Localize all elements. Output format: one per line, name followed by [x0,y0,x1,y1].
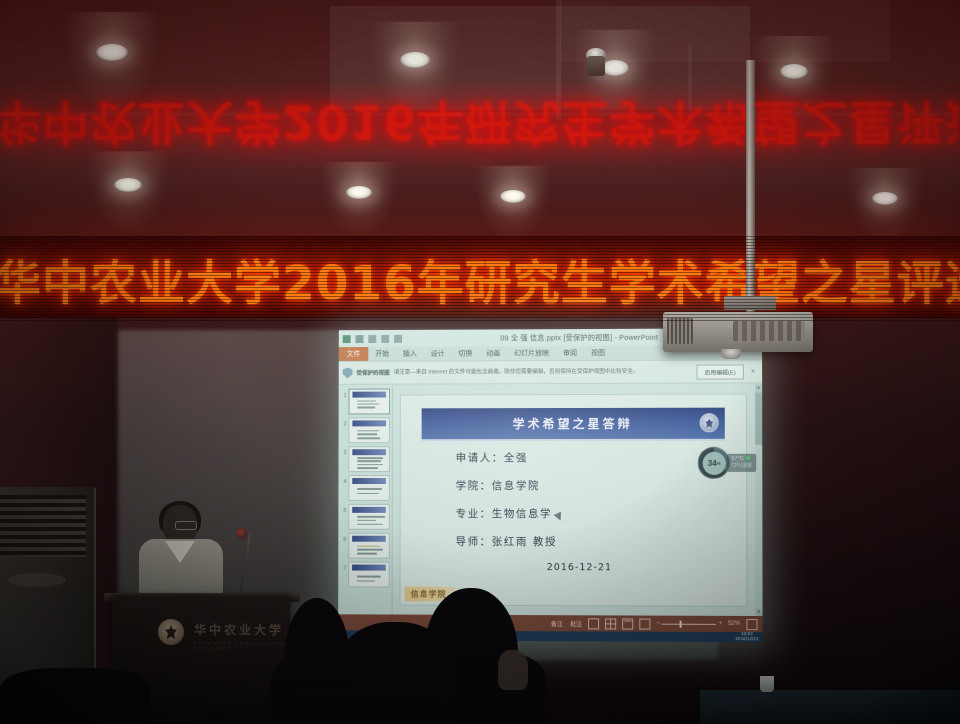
thumb-line [357,407,374,409]
thumb-line [357,457,383,459]
cpu-temp-box: 57°C CPU温度 [727,454,756,471]
redo-icon[interactable] [381,334,389,342]
protected-view-message: 请注意—来自 Internet 的文件可能包含病毒。除非您需要编辑，否则保持在受… [394,368,693,376]
thumbnail-preview[interactable] [348,533,390,559]
cpu-usage-value: 34% [703,451,726,474]
slide-body: 申请人：全强 学院：信息学院 专业：生物信息学 导师：张红雨 教授 2016-1… [456,450,705,574]
tab-review[interactable]: 审阅 [556,347,584,359]
taskbar-clock[interactable]: 16:52 2016/12/21 [735,632,758,642]
thumbnail-item[interactable]: 3 [338,443,391,472]
ceiling-camera [584,48,608,78]
slide-line-major: 专业：生物信息学 [456,506,705,521]
tab-design[interactable]: 设计 [424,348,452,360]
reading-view-icon[interactable] [622,618,633,629]
scroll-down-arrow-icon[interactable]: ▼ [755,609,762,616]
audience-head [0,668,150,724]
led-banner: 华中农业大学2016年研究生学术希望之星评选会 [0,236,960,322]
quick-access-toolbar[interactable] [343,334,402,342]
cpu-temp-label: CPU温度 [731,463,752,469]
percent-sign: % [717,460,721,465]
current-slide[interactable]: 学术希望之星答辩 申请人：全强 学院：信息学院 专业：生物信息学 导师：张红雨 … [400,394,747,607]
projector-lens [721,349,741,359]
thumbnail-number: 1 [341,389,347,399]
thumb-line [357,467,378,469]
powerpoint-logo-icon [343,335,351,343]
slide-thumbnail-pane[interactable]: 1 2 3 [338,386,393,615]
thumb-line [357,576,381,578]
ceiling-light [400,52,430,68]
projector-ports [733,321,805,341]
thumbnail-preview[interactable] [348,562,390,588]
clock-date: 2016/12/21 [735,637,758,642]
thumb-line [357,520,376,522]
thumbnail-item[interactable]: 4 [338,472,391,501]
conference-hall-photo: 华中农业大学2016年研究生学术希望之星评选会 华中农业大学2016年研究生学术… [0,0,960,724]
comments-button[interactable]: 批注 [570,619,582,628]
start-slideshow-icon[interactable] [394,334,402,342]
status-dot-icon [746,456,750,460]
projected-powerpoint-window: 09 全 强 信息.pptx [受保护的视图] - PowerPoint 文件 … [338,328,762,642]
scrollbar-thumb[interactable] [755,392,762,444]
thumb-line [357,400,376,402]
led-reflection-text: 华中农业大学2016年研究生学术希望之星评选会 [0,92,960,161]
microphone-head [236,528,247,539]
slide-line-advisor: 导师：张红雨 教授 [456,534,705,549]
podium-emblem-icon [158,619,184,645]
thumb-line [357,524,383,526]
thumbnail-item[interactable]: 7 [338,559,391,588]
status-notes-comments[interactable]: 备注 批注 [551,619,582,628]
slideshow-icon[interactable] [639,618,650,629]
cpu-usage-gauge: 34% [698,447,730,479]
thumb-title-bar [352,507,385,512]
ceiling-light [500,190,526,203]
normal-view-icon[interactable] [588,618,599,629]
paper-cup [760,676,774,692]
thumbnail-item[interactable]: 5 [338,501,391,530]
podium-title: 华中农业大学 [194,621,284,638]
close-icon[interactable]: × [748,368,758,375]
slide-line-college: 学院：信息学院 [456,478,704,493]
tab-insert[interactable]: 插入 [396,348,424,360]
protected-view-bar: 受保护的视图 请注意—来自 Internet 的文件可能包含病毒。除非您需要编辑… [339,359,762,384]
zoom-slider[interactable]: − + [656,621,722,627]
vertical-scrollbar[interactable]: ▲ ▼ [755,384,763,616]
led-banner-reflection: 华中农业大学2016年研究生学术希望之星评选会 [0,84,960,168]
thumb-line [357,488,382,489]
thumb-line [357,553,377,555]
audience-desk [700,690,960,724]
zoom-out-button[interactable]: − [656,621,660,627]
ceiling-light [780,64,808,79]
tab-file[interactable]: 文件 [339,347,369,361]
thumb-line [357,545,380,547]
ceiling-panel [560,0,890,62]
slide-line-applicant: 申请人：全强 [456,450,704,465]
tab-home[interactable]: 开始 [368,348,396,360]
ceiling-light [872,192,898,205]
protected-view-label: 受保护的视图 [356,369,389,377]
slide-title-text: 学术希望之星答辩 [513,415,633,432]
thumbnail-preview[interactable] [348,504,390,530]
ceiling-light [96,44,128,61]
tab-animations[interactable]: 动画 [479,347,507,359]
slide-editing-area[interactable]: 学术希望之星答辩 申请人：全强 学院：信息学院 专业：生物信息学 导师：张红雨 … [393,384,755,616]
thumb-title-bar [352,536,385,541]
thumb-line [357,403,378,405]
ceiling-light [346,186,372,199]
zoom-level[interactable]: 52% [728,621,740,627]
thumb-line [357,493,379,494]
thumb-line [357,464,382,466]
tab-view[interactable]: 视图 [584,347,612,359]
shield-icon [343,367,353,378]
cpu-usage-number: 34 [708,458,717,467]
enable-editing-button[interactable]: 启用编辑(E) [696,364,743,379]
thumbnail-preview[interactable] [348,446,390,472]
thumb-line [357,461,381,463]
thumb-title-bar [353,392,386,397]
ceiling-light [114,178,142,192]
camera-body [587,56,605,76]
thumbnail-number: 7 [340,562,346,572]
slide-title-banner: 学术希望之星答辩 [422,407,725,441]
zoom-handle[interactable] [680,620,682,627]
podium-subtitle: HUAZHONG AGRICULTURAL UNIVERSITY [194,641,290,651]
thumb-line [357,549,382,551]
thumb-title-bar [353,450,386,455]
thumb-title-bar [352,565,385,570]
cpu-temperature-value: 57°C [731,456,743,462]
thumbnail-number: 6 [340,533,346,543]
university-emblem-icon [700,414,719,433]
notes-button[interactable]: 备注 [551,619,563,628]
thumb-line [357,434,377,436]
audience-hand [498,650,528,690]
audience-head [336,622,454,724]
thumb-title-bar [353,421,386,426]
thumb-title-bar [352,478,385,483]
ceiling-projector [663,312,813,352]
thumbnail-number: 4 [340,475,346,485]
led-banner-text: 华中农业大学2016年研究生学术希望之星评选会 [0,245,960,314]
thumbnail-number: 5 [340,504,346,514]
save-icon[interactable] [356,335,364,343]
projector-vent [667,318,693,344]
tab-transitions[interactable]: 切换 [451,347,479,359]
thumb-line [357,430,379,432]
thumbnail-item[interactable]: 2 [339,414,392,443]
presenter-glasses [175,521,197,530]
thumbnail-item[interactable]: 6 [338,530,391,559]
cpu-monitor-widget: 34% 57°C CPU温度 [698,447,756,479]
thumbnail-preview[interactable] [348,417,390,443]
thumbnail-item[interactable]: 1 [339,386,392,415]
undo-icon[interactable] [368,335,376,343]
ac-grille [0,495,86,557]
tab-slideshow[interactable]: 幻灯片放映 [507,347,556,359]
thumbnail-preview[interactable] [348,475,390,501]
scroll-up-arrow-icon[interactable]: ▲ [755,384,762,391]
projector-mount [724,296,776,310]
thumb-line [357,580,375,582]
thumbnail-preview[interactable] [348,389,390,415]
thumb-line [357,516,385,518]
thumbnail-number: 3 [341,446,347,456]
thumb-line [357,437,380,439]
projector-pole [746,60,755,322]
zoom-track[interactable] [662,623,717,624]
slide-sorter-icon[interactable] [605,618,616,629]
zoom-in-button[interactable]: + [718,621,722,627]
thumbnail-number: 2 [341,417,347,427]
slide-date: 2016-12-21 [456,562,705,574]
ac-badge [8,573,66,587]
fit-slide-icon[interactable] [746,618,757,629]
